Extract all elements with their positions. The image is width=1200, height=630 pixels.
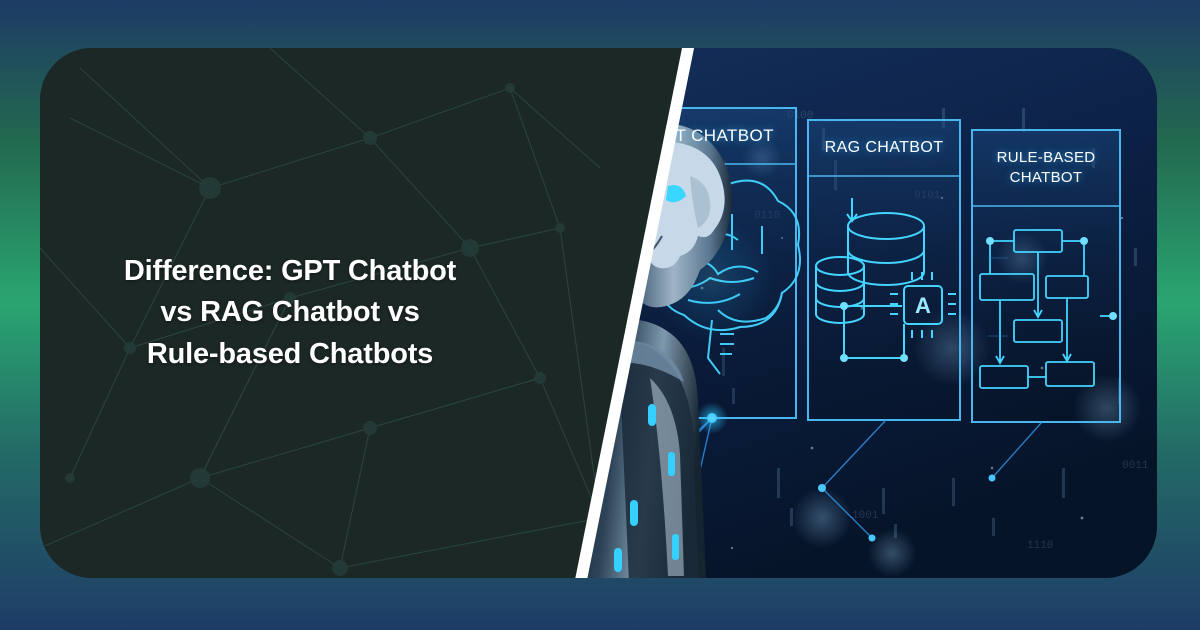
- svg-text:0011: 0011: [1122, 460, 1149, 472]
- chip-letter: A: [915, 293, 931, 318]
- panel-rag: A: [808, 120, 960, 420]
- svg-text:1001: 1001: [852, 510, 879, 522]
- hero-card: 10110110 10010101 11100011 10100100: [40, 48, 1157, 578]
- panel-rule-based: [972, 130, 1120, 422]
- svg-text:1110: 1110: [1027, 540, 1053, 552]
